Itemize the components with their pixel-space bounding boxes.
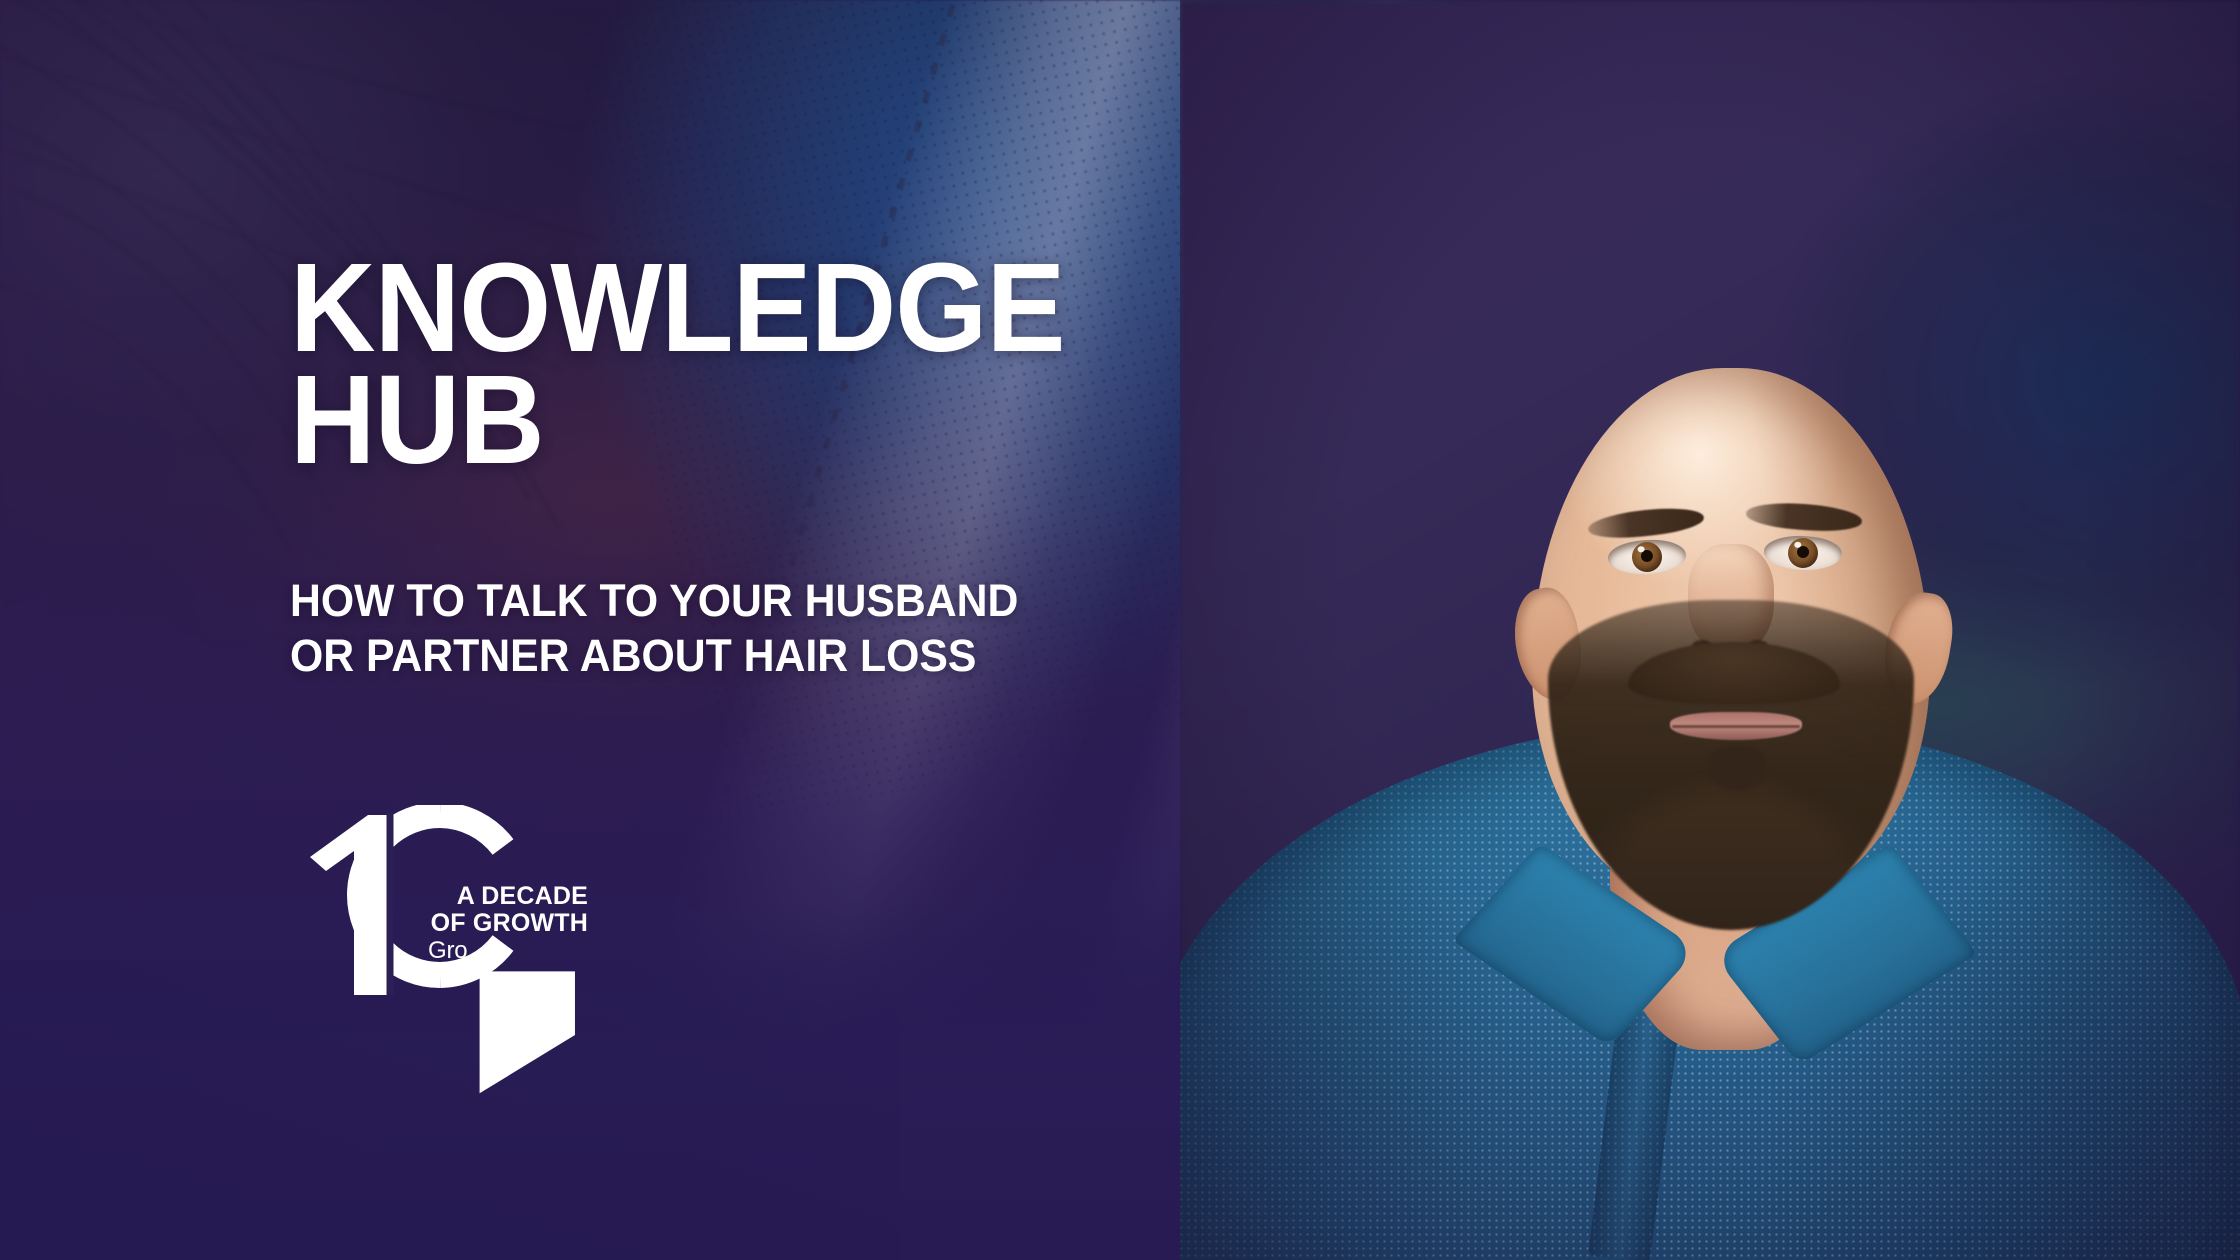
decade-tagline-line-2: OF GROWTH (428, 910, 588, 937)
portrait-vignette (1180, 0, 2240, 1260)
gro-wordmark: Gro (428, 939, 588, 1129)
article-subtitle: HOW TO TALK TO YOUR HUSBAND OR PARTNER A… (290, 574, 1018, 684)
page-title: KNOWLEDGE HUB (290, 252, 1065, 476)
content-block: KNOWLEDGE HUB HOW TO TALK TO YOUR HUSBAN… (290, 0, 1250, 1260)
decade-tagline-line-1: A DECADE (428, 883, 588, 910)
gro-wordmark-text: Gro (428, 939, 467, 963)
decade-logo-text: A DECADE OF GROWTH Gro (428, 883, 588, 1129)
knowledge-hub-banner: KNOWLEDGE HUB HOW TO TALK TO YOUR HUSBAN… (0, 0, 2240, 1260)
decade-logo: A DECADE OF GROWTH Gro (290, 805, 590, 995)
flag-icon (469, 940, 586, 1130)
subject-portrait (1180, 0, 2240, 1260)
